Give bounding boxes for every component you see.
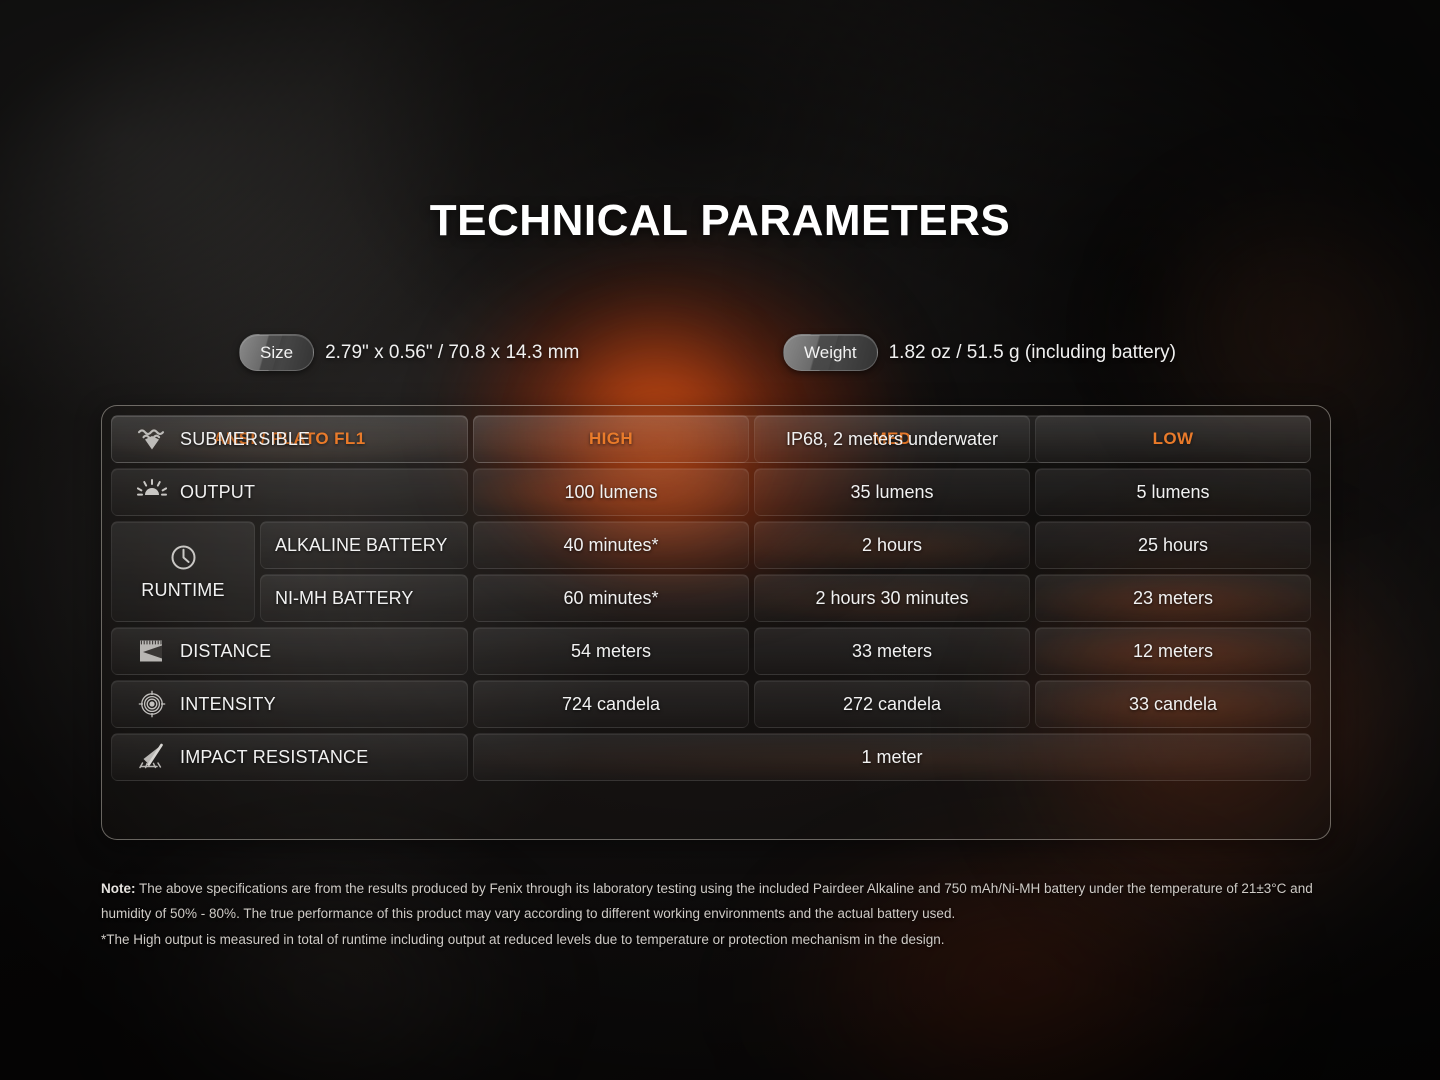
cell-submersible-all-modes: IP68, 2 meters underwater [473, 415, 1311, 463]
specs-table-panel: ANSI / PLATO FL1HIGHMEDLOWOUTPUT100 lume… [101, 405, 1331, 840]
sun-burst-icon [136, 477, 168, 507]
note-star-line: *The High output is measured in total of… [101, 927, 1333, 952]
beam-distance-icon [136, 636, 168, 666]
row-label-submersible: SUBMERSIBLE [111, 415, 468, 463]
row-label-intensity: INTENSITY [111, 680, 468, 728]
cell-ni-mh-battery-low: 23 meters [1035, 574, 1311, 622]
cell-output-low: 5 lumens [1035, 468, 1311, 516]
cell-alkaline-battery-med: 2 hours [754, 521, 1030, 569]
cell-distance-med: 33 meters [754, 627, 1030, 675]
content-layer: TECHNICAL PARAMETERS Size 2.79" x 0.56" … [0, 0, 1440, 1080]
row-label-runtime: RUNTIME [111, 521, 255, 622]
weight-chip-value: 1.82 oz / 51.5 g (including battery) [889, 342, 1176, 364]
cell-alkaline-battery-high: 40 minutes* [473, 521, 749, 569]
size-chip-value: 2.79" x 0.56" / 70.8 x 14.3 mm [325, 342, 579, 364]
cell-output-high: 100 lumens [473, 468, 749, 516]
page-title: TECHNICAL PARAMETERS [0, 196, 1440, 246]
cell-ni-mh-battery-med: 2 hours 30 minutes [754, 574, 1030, 622]
cell-output-med: 35 lumens [754, 468, 1030, 516]
runtime-label-text: RUNTIME [141, 580, 224, 601]
cell-intensity-high: 724 candela [473, 680, 749, 728]
specs-table-grid: ANSI / PLATO FL1HIGHMEDLOWOUTPUT100 lume… [111, 415, 1321, 830]
cell-intensity-low: 33 candela [1035, 680, 1311, 728]
row-label-output: OUTPUT [111, 468, 468, 516]
weight-chip-label: Weight [783, 334, 878, 371]
target-intensity-icon [136, 689, 168, 719]
clock-icon [167, 543, 199, 573]
row-label-distance: DISTANCE [111, 627, 468, 675]
size-spec-group: Size 2.79" x 0.56" / 70.8 x 14.3 mm [239, 334, 579, 371]
size-chip-label: Size [239, 334, 314, 371]
distance-label-text: DISTANCE [180, 641, 271, 662]
spec-chip-row: Size 2.79" x 0.56" / 70.8 x 14.3 mm Weig… [0, 334, 1440, 374]
output-label-text: OUTPUT [180, 482, 255, 503]
row-sublabel-ni-mh-battery: NI-MH BATTERY [260, 574, 468, 622]
notes-block: Note: The above specifications are from … [101, 876, 1333, 952]
impact-drop-icon [136, 742, 168, 772]
note-paragraph: Note: The above specifications are from … [101, 876, 1333, 926]
cell-ni-mh-battery-high: 60 minutes* [473, 574, 749, 622]
intensity-label-text: INTENSITY [180, 694, 276, 715]
cell-alkaline-battery-low: 25 hours [1035, 521, 1311, 569]
row-label-impact-resistance: IMPACT RESISTANCE [111, 733, 468, 781]
cell-impact-resistance-all-modes: 1 meter [473, 733, 1311, 781]
row-sublabel-alkaline-battery: ALKALINE BATTERY [260, 521, 468, 569]
cell-distance-high: 54 meters [473, 627, 749, 675]
screenshot-root: TECHNICAL PARAMETERS Size 2.79" x 0.56" … [0, 0, 1440, 1080]
weight-spec-group: Weight 1.82 oz / 51.5 g (including batte… [783, 334, 1176, 371]
cell-distance-low: 12 meters [1035, 627, 1311, 675]
note-body: The above specifications are from the re… [101, 881, 1313, 921]
impact-resistance-label-text: IMPACT RESISTANCE [180, 747, 368, 768]
cell-intensity-med: 272 candela [754, 680, 1030, 728]
note-label: Note: [101, 881, 136, 896]
water-drop-icon [136, 424, 168, 454]
submersible-label-text: SUBMERSIBLE [180, 429, 310, 450]
